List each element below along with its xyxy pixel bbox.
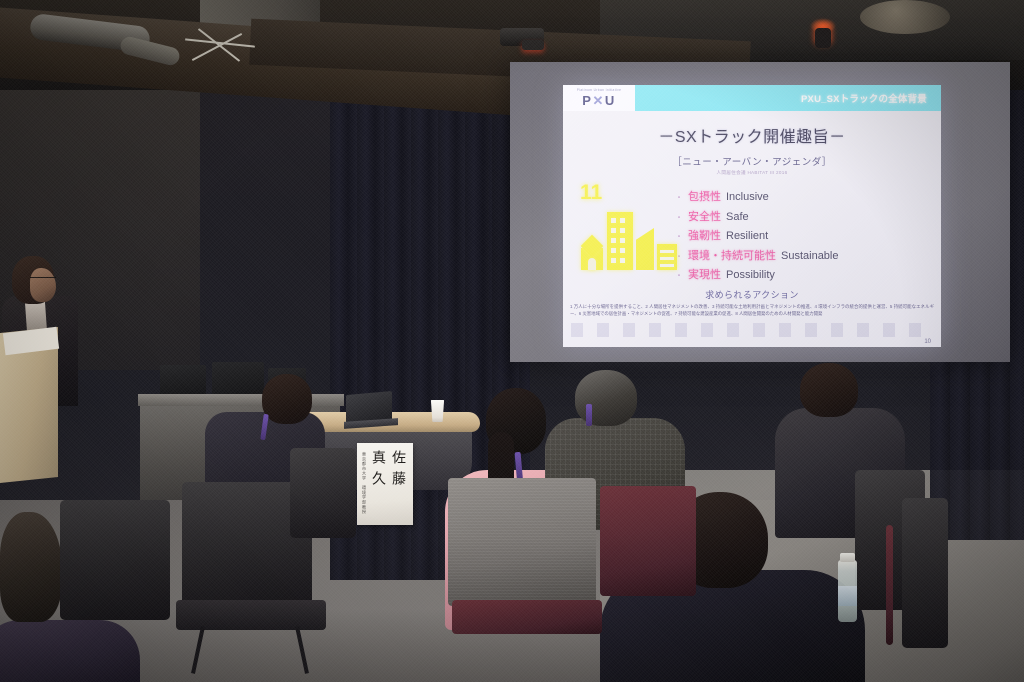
logo-mark-x: ✕ — [592, 93, 604, 108]
chair-back — [600, 486, 696, 596]
bottle-label — [838, 586, 857, 606]
presenter-face — [30, 268, 56, 302]
name-placard: 佐藤 真久 東京都市大学 環境学部教授 — [357, 443, 413, 525]
list-item: ・ 包摂性 Inclusive — [675, 188, 941, 204]
spotlight-icon — [815, 28, 831, 48]
list-item: ・ 安全性 Safe — [675, 208, 941, 224]
attendee-body — [0, 620, 140, 682]
list-item: ・ 強靭性 Resilient — [675, 227, 941, 243]
attendee-head — [800, 363, 858, 417]
chair-back — [60, 500, 170, 620]
av-desk-top — [138, 394, 344, 406]
paper-cup — [430, 400, 445, 422]
bullet-dot: ・ — [675, 272, 683, 280]
bullet-label-jp: 包摂性 — [688, 188, 721, 204]
bullet-dot: ・ — [675, 194, 683, 202]
logo-mark-u: U — [605, 93, 616, 108]
slide-subnote: 人間居住会議 HABITAT III 2016 — [563, 170, 941, 176]
chair-seat — [452, 600, 602, 634]
round-duct — [860, 0, 950, 34]
chair-back — [448, 478, 596, 606]
slide-header-band: Platinum Urban Initiative P✕U PXU_SXトラック… — [563, 85, 941, 111]
projected-slide: Platinum Urban Initiative P✕U PXU_SXトラック… — [563, 85, 941, 347]
placard-name-text: 佐藤 真久 — [367, 450, 407, 525]
chair-seat — [176, 600, 326, 630]
action-heading: 求められるアクション — [563, 288, 941, 301]
bullet-label-en: Possibility — [726, 269, 775, 281]
slide-subtitle: ［ニュー・アーバン・アジェンダ］ — [563, 154, 941, 168]
slide-middle-row: 11 — [563, 182, 941, 286]
attendee-head — [262, 374, 312, 424]
bullet-label-en: Sustainable — [781, 250, 839, 262]
bullet-label-en: Safe — [726, 211, 749, 223]
sustainable-cities-icon: 11 — [573, 182, 669, 274]
bullet-label-jp: 安全性 — [688, 208, 721, 224]
logo-mark-p: P — [582, 93, 592, 108]
action-body-text: 1 万人に十分な場所を提供すること、2 人間居住マネジメントの改善、3 持続可能… — [570, 303, 934, 318]
slide-footer-icon-strip — [571, 323, 933, 337]
logo-mark: P✕U — [582, 94, 615, 107]
slide-body: －SXトラック開催趣旨－ ［ニュー・アーバン・アジェンダ］ 人間居住会議 HAB… — [563, 111, 941, 347]
attendee-head — [575, 370, 637, 426]
glasses-icon — [30, 277, 56, 283]
monitor-icon — [212, 362, 264, 395]
bullet-label-jp: 実現性 — [688, 266, 721, 282]
bullet-label-en: Resilient — [726, 230, 768, 242]
slide-title: －SXトラック開催趣旨－ — [563, 123, 941, 147]
chair-frame — [886, 525, 893, 645]
list-item: ・ 実現性 Possibility — [675, 266, 941, 282]
bullet-label-jp: 強靭性 — [688, 227, 721, 243]
sdg-number: 11 — [580, 182, 602, 203]
bullet-dot: ・ — [675, 233, 683, 241]
slide-page-number: 10 — [924, 339, 931, 345]
chair-back — [902, 498, 948, 648]
conference-room-photo: Platinum Urban Initiative P✕U PXU_SXトラック… — [0, 0, 1024, 682]
ceiling-fixture-lamp — [522, 40, 544, 50]
bullet-label-en: Inclusive — [726, 191, 769, 203]
bullet-dot: ・ — [675, 214, 683, 222]
bottle-cap — [840, 553, 855, 562]
chair-back — [290, 448, 356, 538]
pxu-logo: Platinum Urban Initiative P✕U — [563, 85, 637, 111]
slide-bullet-list: ・ 包摂性 Inclusive ・ 安全性 Safe ・ 強靭性 Res — [669, 182, 941, 286]
lanyard — [586, 404, 592, 426]
bullet-label-jp: 環境・持続可能性 — [688, 247, 776, 263]
slide-header-title: PXU_SXトラックの全体背景 — [637, 91, 941, 105]
list-item: ・ 環境・持続可能性 Sustainable — [675, 247, 941, 263]
projector-mount — [185, 42, 255, 82]
attendee-head — [0, 512, 62, 622]
monitor-icon — [160, 365, 206, 395]
